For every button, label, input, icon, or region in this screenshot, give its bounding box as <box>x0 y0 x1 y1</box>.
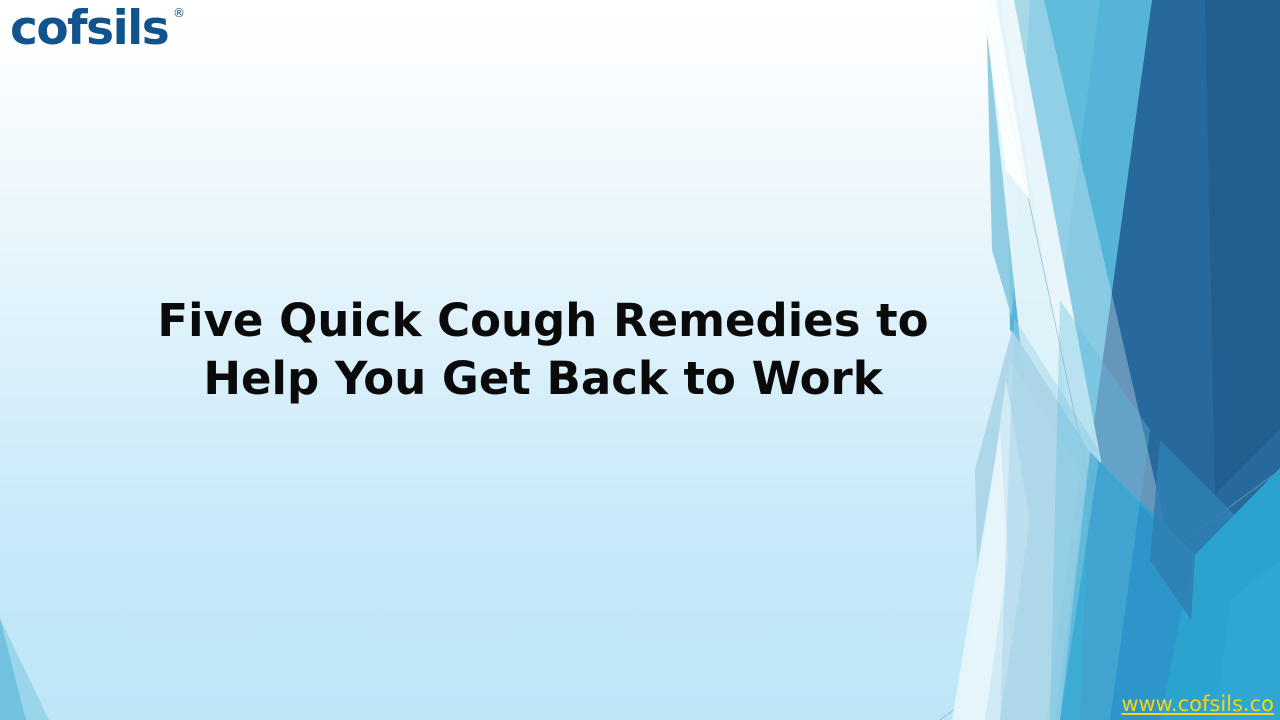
decor-shape-lower-steel <box>1150 440 1240 640</box>
decor-shape-sky-wedge <box>1006 0 1152 452</box>
registered-trademark-icon: ® <box>173 7 185 19</box>
title-line-2: Back to Work <box>547 352 883 405</box>
logo-wordmark: cofsils <box>10 3 168 55</box>
decor-shape-ice-sliver <box>952 430 1008 720</box>
decor-shape-pale-lower-left <box>975 330 1090 720</box>
decor-shape-pale-lower-left-2 <box>990 360 1080 720</box>
decor-shape-sky-wedge-light <box>986 0 1030 318</box>
decor-shape-band-overlay <box>1000 318 1100 720</box>
page-title: Five Quick Cough Remedies to Help You Ge… <box>108 292 978 408</box>
decor-shape-lower-azure <box>1080 452 1192 720</box>
decor-shape-pale-lower-left-3 <box>960 380 1030 720</box>
decor-hairline-2 <box>940 470 1280 720</box>
decor-shape-lower-bright <box>1185 468 1280 720</box>
footer-url: www.cofsils.co <box>1121 692 1274 716</box>
brand-logo[interactable]: cofsils ® <box>10 3 210 59</box>
slide-title: Five Quick Cough Remedies to Help You Ge… <box>108 292 978 408</box>
decor-shape-corner-triangle <box>0 618 26 720</box>
decor-shape-band-overlay-2 <box>1050 300 1150 720</box>
decor-shape-pale-sheet <box>984 0 1150 720</box>
decor-shape-sky-wedge-mid <box>1014 0 1100 300</box>
website-link[interactable]: www.cofsils.co <box>1121 692 1274 716</box>
presentation-slide: cofsils ® Five Quick Cough Remedies to H… <box>0 0 1280 720</box>
decor-shape-navy-right-deep <box>1205 0 1280 495</box>
decor-shape-top-sliver <box>982 0 1030 200</box>
decor-shape-navy-right <box>1090 0 1280 560</box>
decor-shape-corner-triangle-edge <box>0 618 49 720</box>
decor-shape-pale-sheet-2 <box>1000 0 1210 720</box>
decor-hairline-1 <box>1002 75 1140 720</box>
decor-shape-lower-cyan-large <box>1055 452 1280 720</box>
